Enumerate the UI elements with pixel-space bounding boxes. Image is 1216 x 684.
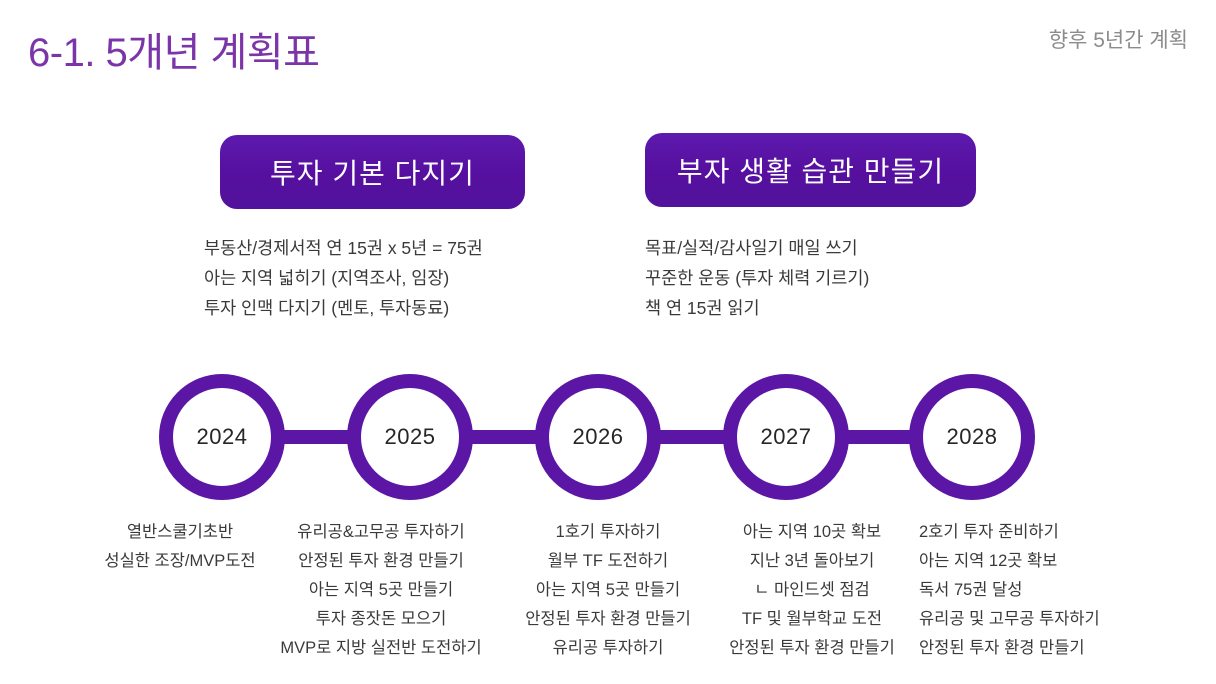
timeline-node-2027[interactable]: 2027	[723, 374, 849, 500]
timeline-connector	[466, 430, 544, 444]
year-item: 안정된 투자 환경 만들기	[502, 605, 714, 634]
goal-item: 꾸준한 운동 (투자 체력 기르기)	[645, 263, 869, 293]
year-item: 아는 지역 12곳 확보	[919, 547, 1209, 576]
year-item: 유리공 및 고무공 투자하기	[919, 605, 1209, 634]
page-title: 6-1. 5개년 계획표	[28, 20, 319, 78]
goal-group-heading-1: 투자 기본 다지기	[220, 135, 525, 209]
year-column-2025: 유리공&고무공 투자하기 안정된 투자 환경 만들기 아는 지역 5곳 만들기 …	[267, 518, 495, 663]
year-item: 아는 지역 5곳 만들기	[502, 576, 714, 605]
goal-group-items-1: 부동산/경제서적 연 15권 x 5년 = 75권 아는 지역 넓히기 (지역조…	[204, 233, 483, 323]
year-item: 유리공&고무공 투자하기	[267, 518, 495, 547]
goal-item: 투자 인맥 다지기 (멘토, 투자동료)	[204, 293, 483, 323]
year-item: 월부 TF 도전하기	[502, 547, 714, 576]
goal-group-items-2: 목표/실적/감사일기 매일 쓰기 꾸준한 운동 (투자 체력 기르기) 책 연 …	[645, 233, 869, 323]
timeline-node-label: 2024	[197, 424, 248, 450]
timeline-node-2025[interactable]: 2025	[347, 374, 473, 500]
goal-item: 목표/실적/감사일기 매일 쓰기	[645, 233, 869, 263]
year-item: 아는 지역 10곳 확보	[707, 518, 917, 547]
year-item: ㄴ 마인드셋 점검	[707, 576, 917, 605]
page-subtitle: 향후 5년간 계획	[1049, 24, 1188, 54]
timeline-node-label: 2026	[573, 424, 624, 450]
year-item: 성실한 조장/MVP도전	[85, 547, 275, 576]
timeline-connector	[842, 430, 914, 444]
year-item: 2호기 투자 준비하기	[919, 518, 1209, 547]
year-item: 독서 75권 달성	[919, 576, 1209, 605]
timeline-node-label: 2028	[947, 424, 998, 450]
year-item: 안정된 투자 환경 만들기	[707, 634, 917, 663]
timeline-node-2024[interactable]: 2024	[159, 374, 285, 500]
goal-item: 책 연 15권 읽기	[645, 293, 869, 323]
timeline: 2024 2025 2026 2027 2028	[0, 355, 1216, 515]
year-column-2026: 1호기 투자하기 월부 TF 도전하기 아는 지역 5곳 만들기 안정된 투자 …	[502, 518, 714, 663]
year-item: MVP로 지방 실전반 도전하기	[267, 634, 495, 663]
goal-item: 부동산/경제서적 연 15권 x 5년 = 75권	[204, 233, 483, 263]
year-item: 안정된 투자 환경 만들기	[267, 547, 495, 576]
year-column-2028: 2호기 투자 준비하기 아는 지역 12곳 확보 독서 75권 달성 유리공 및…	[919, 518, 1209, 663]
timeline-node-label: 2027	[761, 424, 812, 450]
timeline-node-label: 2025	[385, 424, 436, 450]
year-item: 안정된 투자 환경 만들기	[919, 634, 1209, 663]
year-item: 아는 지역 5곳 만들기	[267, 576, 495, 605]
year-column-2027: 아는 지역 10곳 확보 지난 3년 돌아보기 ㄴ 마인드셋 점검 TF 및 월…	[707, 518, 917, 663]
year-column-2024: 열반스쿨기초반 성실한 조장/MVP도전	[85, 518, 275, 576]
timeline-connector	[654, 430, 732, 444]
year-item: TF 및 월부학교 도전	[707, 605, 917, 634]
timeline-node-2028[interactable]: 2028	[909, 374, 1035, 500]
year-item: 투자 종잣돈 모으기	[267, 605, 495, 634]
year-item: 열반스쿨기초반	[85, 518, 275, 547]
year-item: 1호기 투자하기	[502, 518, 714, 547]
goal-group-heading-2: 부자 생활 습관 만들기	[645, 133, 976, 207]
year-item: 지난 3년 돌아보기	[707, 547, 917, 576]
year-item: 유리공 투자하기	[502, 634, 714, 663]
timeline-node-2026[interactable]: 2026	[535, 374, 661, 500]
goal-item: 아는 지역 넓히기 (지역조사, 임장)	[204, 263, 483, 293]
timeline-connector	[278, 430, 356, 444]
